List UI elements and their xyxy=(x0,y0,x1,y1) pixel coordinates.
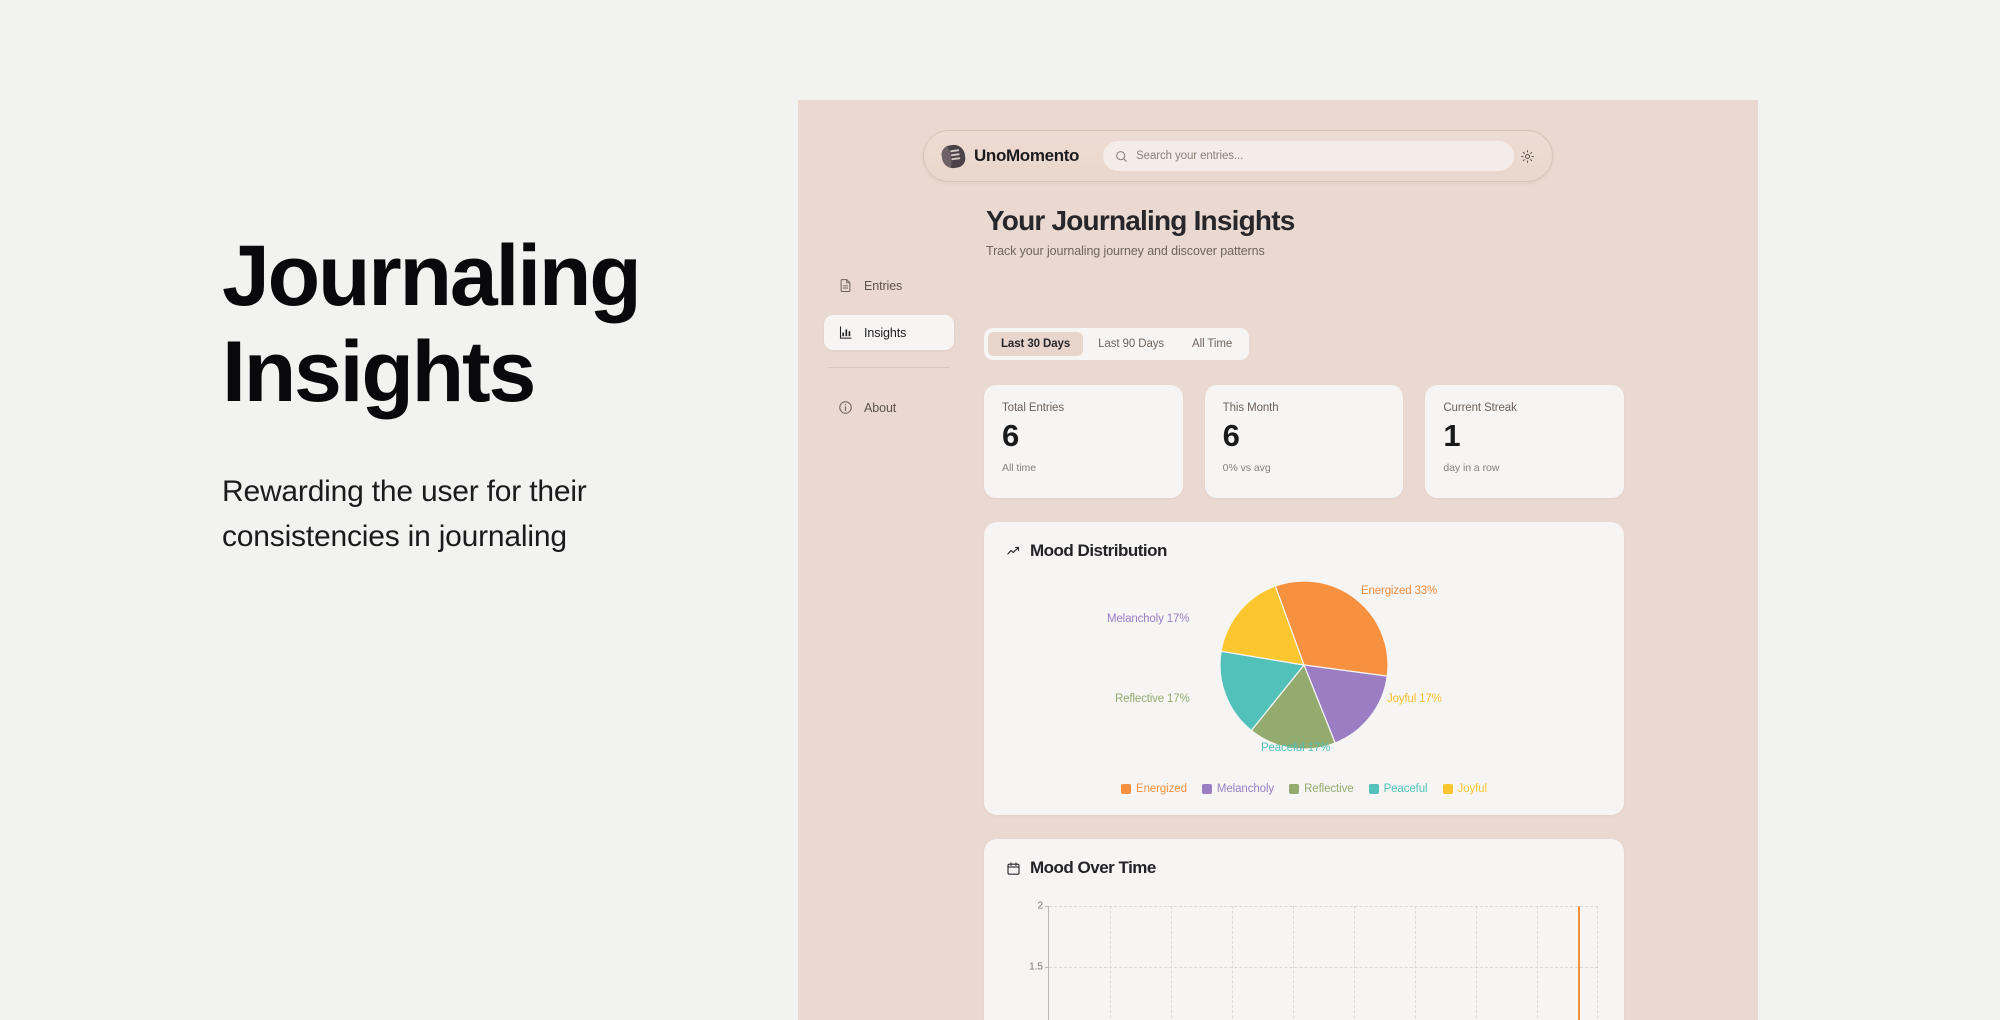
legend-item: Energized xyxy=(1121,783,1187,795)
legend-swatch xyxy=(1202,784,1212,794)
tab-all-time[interactable]: All Time xyxy=(1179,332,1245,356)
promo-title: Journaling Insights xyxy=(222,228,782,421)
pie-label-reflective: Reflective 17% xyxy=(1115,693,1190,705)
legend-swatch xyxy=(1369,784,1379,794)
legend-label: Melancholy xyxy=(1217,783,1274,795)
sidebar-item-label: Insights xyxy=(864,326,906,340)
mot-plot-area: 2 1.5 xyxy=(1048,906,1598,1020)
main-content: Last 30 Days Last 90 Days All Time Total… xyxy=(984,328,1624,1020)
stat-label: Total Entries xyxy=(1002,402,1165,414)
app-topbar: UnoMomento Search your entries... xyxy=(923,130,1553,182)
tab-last-30-days[interactable]: Last 30 Days xyxy=(988,332,1083,356)
gridline-v xyxy=(1232,906,1233,1020)
brand-name: UnoMomento xyxy=(974,146,1079,166)
legend-swatch xyxy=(1121,784,1131,794)
sidebar: Entries Insights About xyxy=(824,268,954,437)
gridline-v xyxy=(1171,906,1172,1020)
pie-legend: Energized Melancholy Reflective Peaceful xyxy=(1006,783,1602,795)
stat-value: 6 xyxy=(1223,420,1386,451)
document-icon xyxy=(838,278,853,293)
legend-label: Reflective xyxy=(1304,783,1354,795)
mood-over-time-header: Mood Over Time xyxy=(1006,858,1602,878)
pie-chart-svg xyxy=(1220,581,1388,749)
stat-label: Current Streak xyxy=(1443,402,1606,414)
sidebar-item-label: About xyxy=(864,401,896,415)
mood-distribution-header: Mood Distribution xyxy=(1006,541,1602,561)
stat-value: 6 xyxy=(1002,420,1165,451)
sidebar-item-label: Entries xyxy=(864,279,902,293)
info-circle-icon xyxy=(838,400,853,415)
mood-distribution-panel: Mood Distribution Energized 33% Melancho… xyxy=(984,522,1624,815)
stat-value: 1 xyxy=(1443,420,1606,451)
promo-block: Journaling Insights Rewarding the user f… xyxy=(222,228,782,560)
tickmark xyxy=(1045,906,1049,907)
pie-label-joyful: Joyful 17% xyxy=(1387,693,1442,705)
legend-swatch xyxy=(1443,784,1453,794)
stat-card-current-streak: Current Streak 1 day in a row xyxy=(1425,385,1624,498)
stats-row: Total Entries 6 All time This Month 6 0%… xyxy=(984,385,1624,498)
page-subtitle: Track your journaling journey and discov… xyxy=(986,244,1295,258)
legend-item: Peaceful xyxy=(1369,783,1428,795)
legend-label: Energized xyxy=(1136,783,1187,795)
sidebar-item-entries[interactable]: Entries xyxy=(824,268,954,303)
mood-series-line xyxy=(1578,906,1580,1020)
stat-label: This Month xyxy=(1223,402,1386,414)
app-window: UnoMomento Search your entries... Your J… xyxy=(798,100,1758,1020)
legend-item: Joyful xyxy=(1443,783,1487,795)
trending-up-icon xyxy=(1006,544,1021,559)
legend-item: Reflective xyxy=(1289,783,1354,795)
time-range-tabs: Last 30 Days Last 90 Days All Time xyxy=(984,328,1249,360)
gridline-v xyxy=(1537,906,1538,1020)
stat-card-total-entries: Total Entries 6 All time xyxy=(984,385,1183,498)
gear-icon xyxy=(1520,149,1535,164)
page-root: Journaling Insights Rewarding the user f… xyxy=(0,0,2000,1020)
legend-swatch xyxy=(1289,784,1299,794)
pie-label-melancholy: Melancholy 17% xyxy=(1107,613,1189,625)
gridline-v xyxy=(1110,906,1111,1020)
mood-over-time-panel: Mood Over Time 2 1.5 xyxy=(984,839,1624,1020)
page-header: Your Journaling Insights Track your jour… xyxy=(986,205,1295,258)
gridline-v xyxy=(1415,906,1416,1020)
gridline-v xyxy=(1476,906,1477,1020)
pie-chart xyxy=(1220,581,1388,749)
stat-footnote: All time xyxy=(1002,462,1165,474)
search-input[interactable]: Search your entries... xyxy=(1103,141,1514,171)
y-tick-label: 1.5 xyxy=(1029,961,1043,972)
search-placeholder: Search your entries... xyxy=(1136,150,1243,162)
gridline-v xyxy=(1354,906,1355,1020)
panel-title: Mood Over Time xyxy=(1030,858,1156,878)
page-title: Your Journaling Insights xyxy=(986,205,1295,237)
gridline-h xyxy=(1049,967,1598,968)
sidebar-item-about[interactable]: About xyxy=(824,390,954,425)
stat-footnote: day in a row xyxy=(1443,462,1606,474)
mood-over-time-chart: 2 1.5 xyxy=(1006,898,1602,1020)
unomomento-logo-icon xyxy=(941,143,967,169)
stat-card-this-month: This Month 6 0% vs avg xyxy=(1205,385,1404,498)
mood-distribution-chart: Energized 33% Melancholy 17% Reflective … xyxy=(1006,573,1602,769)
brand[interactable]: UnoMomento xyxy=(942,145,1079,168)
pie-label-energized: Energized 33% xyxy=(1361,585,1437,597)
y-tick-label: 2 xyxy=(1037,901,1043,912)
settings-button[interactable] xyxy=(1514,143,1540,169)
panel-title: Mood Distribution xyxy=(1030,541,1167,561)
legend-label: Joyful xyxy=(1458,783,1487,795)
promo-subtitle: Rewarding the user for their consistenci… xyxy=(222,469,702,560)
bar-chart-icon xyxy=(838,325,853,340)
tickmark xyxy=(1045,967,1049,968)
legend-label: Peaceful xyxy=(1384,783,1428,795)
calendar-icon xyxy=(1006,861,1021,876)
search-icon xyxy=(1115,150,1128,163)
tab-last-90-days[interactable]: Last 90 Days xyxy=(1085,332,1177,356)
gridline-h xyxy=(1049,906,1598,907)
sidebar-item-insights[interactable]: Insights xyxy=(824,315,954,350)
pie-label-peaceful: Peaceful 17% xyxy=(1261,742,1330,754)
sidebar-divider xyxy=(828,367,950,368)
gridline-v xyxy=(1293,906,1294,1020)
stat-footnote: 0% vs avg xyxy=(1223,462,1386,474)
gridline-v xyxy=(1597,906,1598,1020)
legend-item: Melancholy xyxy=(1202,783,1274,795)
